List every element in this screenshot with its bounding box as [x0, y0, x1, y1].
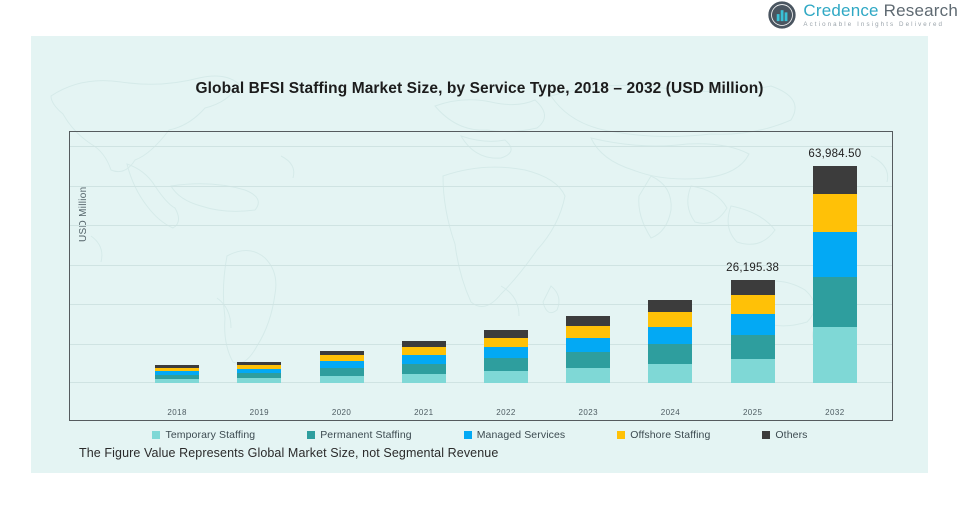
- bar-segment-2023-3[interactable]: [566, 326, 610, 338]
- bar-segment-2025-3[interactable]: [731, 295, 775, 314]
- legend-label: Others: [775, 429, 807, 441]
- bar-segment-2021-1[interactable]: [402, 364, 446, 374]
- legend-swatch-icon: [464, 431, 472, 439]
- bar-segment-2032-4[interactable]: [813, 166, 857, 194]
- legend-swatch-icon: [152, 431, 160, 439]
- legend-item-4[interactable]: Others: [762, 429, 807, 441]
- bar-segment-2025-0[interactable]: [731, 359, 775, 383]
- bar-segment-2024-4[interactable]: [648, 300, 692, 312]
- chart-title: Global BFSI Staffing Market Size, by Ser…: [31, 80, 928, 98]
- bar-segment-2022-1[interactable]: [484, 358, 528, 371]
- x-axis-tick-2021: 2021: [392, 408, 456, 417]
- bar-value-label-2032: 63,984.50: [808, 148, 861, 160]
- bar-segment-2025-4[interactable]: [731, 280, 775, 295]
- legend-item-0[interactable]: Temporary Staffing: [152, 429, 255, 441]
- bar-segment-2024-3[interactable]: [648, 312, 692, 327]
- bar-segment-2020-1[interactable]: [320, 368, 364, 376]
- legend-label: Offshore Staffing: [630, 429, 710, 441]
- bar-segment-2024-2[interactable]: [648, 327, 692, 344]
- bar-segment-2021-2[interactable]: [402, 355, 446, 364]
- bar-segment-2023-4[interactable]: [566, 316, 610, 326]
- chart-plot-frame: USD Million 26,195.3863,984.50 201820192…: [69, 131, 893, 421]
- bar-segment-2023-1[interactable]: [566, 352, 610, 368]
- header-strip: Credence Research Actionable Insights De…: [0, 0, 958, 32]
- x-axis-tick-2024: 2024: [638, 408, 702, 417]
- bar-segment-2025-2[interactable]: [731, 314, 775, 336]
- gridline: [70, 186, 892, 187]
- x-axis-tick-2025: 2025: [721, 408, 785, 417]
- x-axis-tick-2032: 2032: [803, 408, 867, 417]
- bar-segment-2023-2[interactable]: [566, 338, 610, 352]
- brand-name-second: Research: [884, 1, 958, 20]
- x-axis-tick-2023: 2023: [556, 408, 620, 417]
- gridline: [70, 225, 892, 226]
- bar-2021[interactable]: [402, 341, 446, 383]
- bar-segment-2032-2[interactable]: [813, 232, 857, 277]
- bar-segment-2021-3[interactable]: [402, 347, 446, 355]
- bar-2024[interactable]: [648, 300, 692, 383]
- bar-segment-2032-1[interactable]: [813, 277, 857, 327]
- bar-2019[interactable]: [237, 362, 281, 383]
- legend-label: Permanent Staffing: [320, 429, 412, 441]
- brand-logo[interactable]: Credence Research Actionable Insights De…: [768, 1, 958, 29]
- brand-logo-text: Credence Research Actionable Insights De…: [803, 2, 958, 28]
- bar-2022[interactable]: [484, 330, 528, 383]
- y-axis-title: USD Million: [78, 186, 89, 242]
- bar-segment-2022-0[interactable]: [484, 371, 528, 383]
- legend-label: Temporary Staffing: [165, 429, 255, 441]
- bar-segment-2032-3[interactable]: [813, 194, 857, 232]
- bar-segment-2023-0[interactable]: [566, 368, 610, 383]
- plot-area: 26,195.3863,984.50 201820192020202120222…: [136, 146, 876, 383]
- x-axis-tick-2022: 2022: [474, 408, 538, 417]
- bar-segment-2020-0[interactable]: [320, 376, 364, 383]
- bar-chart-circle-icon: [768, 1, 796, 29]
- brand-name: Credence Research: [803, 2, 958, 19]
- bar-2023[interactable]: [566, 316, 610, 383]
- x-axis-tick-2019: 2019: [227, 408, 291, 417]
- legend-item-3[interactable]: Offshore Staffing: [617, 429, 710, 441]
- bar-segment-2022-4[interactable]: [484, 330, 528, 338]
- bar-segment-2024-0[interactable]: [648, 364, 692, 383]
- x-axis-tick-2018: 2018: [145, 408, 209, 417]
- bar-value-label-2025: 26,195.38: [726, 262, 779, 274]
- bar-2020[interactable]: [320, 351, 364, 383]
- bar-segment-2018-0[interactable]: [155, 379, 199, 383]
- legend-swatch-icon: [762, 431, 770, 439]
- chart-legend: Temporary StaffingPermanent StaffingMana…: [69, 429, 891, 441]
- bar-2018[interactable]: [155, 365, 199, 383]
- legend-item-1[interactable]: Permanent Staffing: [307, 429, 412, 441]
- legend-swatch-icon: [307, 431, 315, 439]
- bar-2025[interactable]: 26,195.38: [731, 280, 775, 384]
- chart-footnote: The Figure Value Represents Global Marke…: [79, 446, 498, 460]
- bar-segment-2022-3[interactable]: [484, 338, 528, 348]
- bar-segment-2020-2[interactable]: [320, 361, 364, 368]
- gridline: [70, 146, 892, 147]
- brand-tagline: Actionable Insights Delivered: [803, 22, 958, 28]
- x-axis-tick-2020: 2020: [310, 408, 374, 417]
- legend-item-2[interactable]: Managed Services: [464, 429, 566, 441]
- bar-segment-2019-0[interactable]: [237, 378, 281, 383]
- bar-segment-2025-1[interactable]: [731, 335, 775, 359]
- brand-name-first: Credence: [803, 1, 878, 20]
- bar-segment-2024-1[interactable]: [648, 344, 692, 364]
- bar-segment-2032-0[interactable]: [813, 327, 857, 383]
- bar-segment-2021-0[interactable]: [402, 374, 446, 383]
- legend-label: Managed Services: [477, 429, 566, 441]
- chart-panel: Global BFSI Staffing Market Size, by Ser…: [31, 36, 928, 473]
- bar-segment-2022-2[interactable]: [484, 347, 528, 358]
- legend-swatch-icon: [617, 431, 625, 439]
- bar-2032[interactable]: 63,984.50: [813, 166, 857, 383]
